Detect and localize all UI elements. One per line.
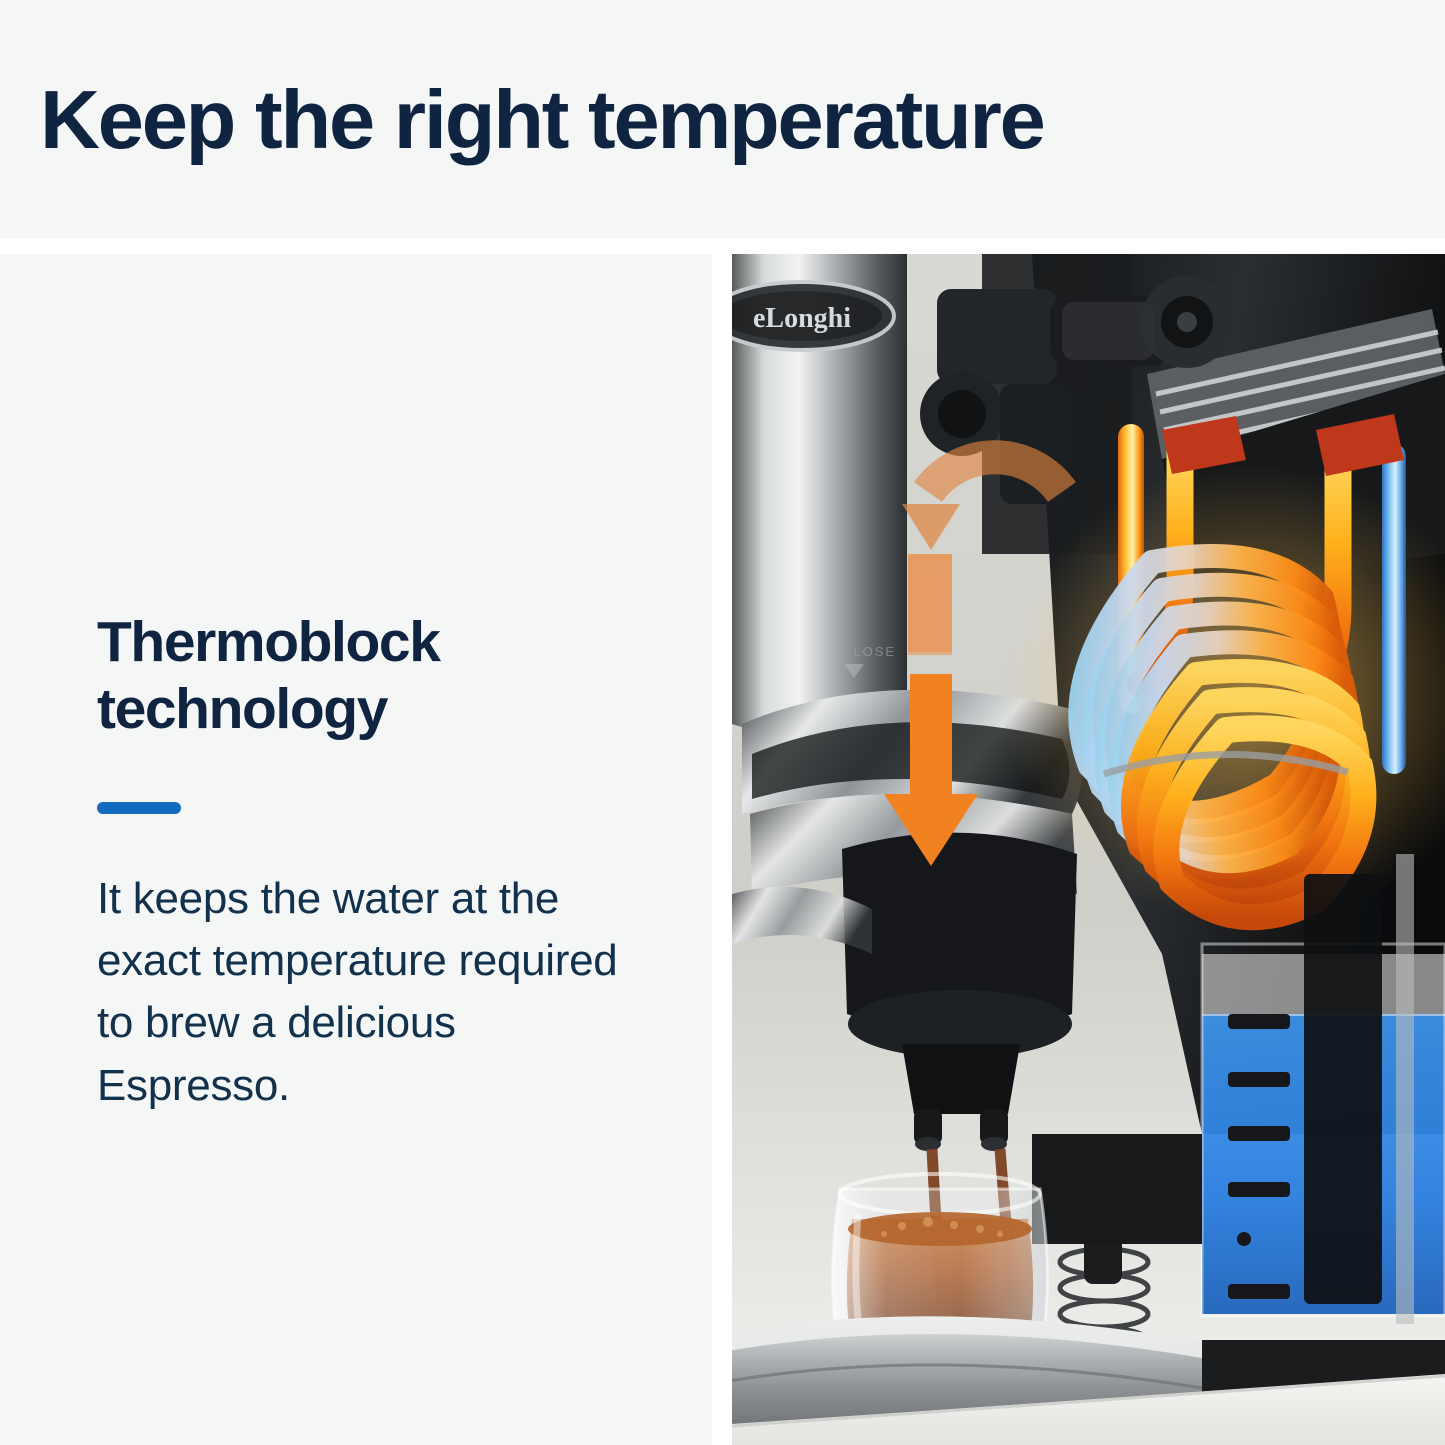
feature-block: Thermoblock technology It keeps the wate…: [97, 609, 637, 1117]
header-divider: [0, 238, 1445, 254]
portafilter-close-label: CLOSE: [842, 644, 896, 659]
text-panel: Thermoblock technology It keeps the wate…: [0, 254, 712, 1445]
machine-badge-text: eLonghi: [753, 303, 851, 334]
accent-divider: [97, 802, 181, 814]
dispenser-housing: [1032, 1134, 1202, 1244]
panel-gutter: [712, 254, 732, 1445]
feature-heading-line-2: technology: [97, 676, 637, 743]
product-photo-illustration: eLonghi CLOSE: [732, 254, 1445, 1445]
feature-heading: Thermoblock technology: [97, 609, 637, 744]
flow-arrow-down: [908, 554, 952, 655]
feature-description: It keeps the water at the exact temperat…: [97, 868, 637, 1118]
cold-tube-right: [1382, 444, 1406, 774]
product-photo: eLonghi CLOSE: [732, 254, 1445, 1445]
header-band: Keep the right temperature: [0, 0, 1445, 238]
page-title: Keep the right temperature: [40, 78, 1044, 161]
feature-heading-line-1: Thermoblock: [97, 609, 637, 676]
machine-brand-badge: eLonghi: [732, 282, 894, 350]
product-feature-card: Keep the right temperature Thermoblock t…: [0, 0, 1445, 1445]
